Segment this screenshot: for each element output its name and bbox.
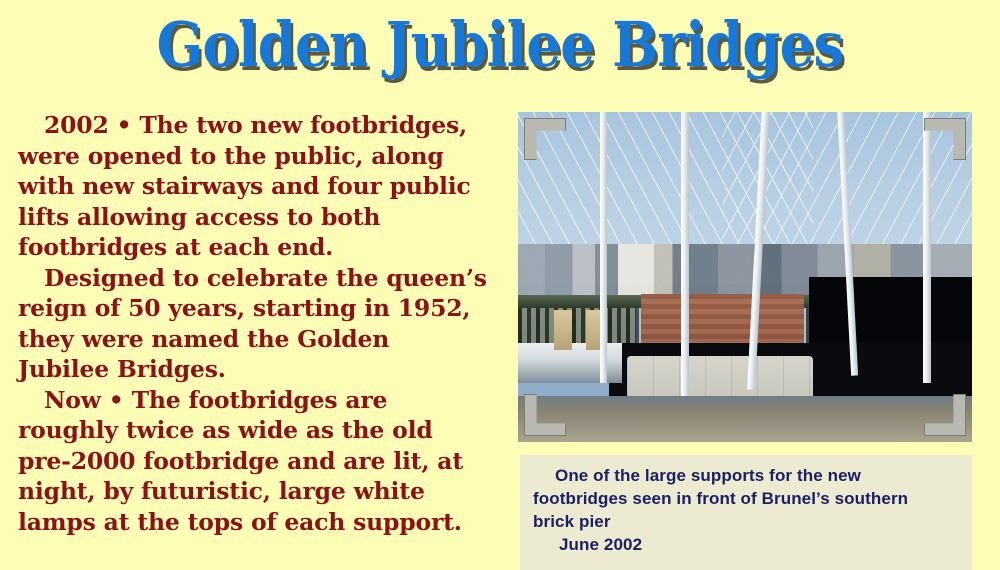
caption-line-4-date: June 2002	[533, 533, 963, 556]
page-title: Golden Jubilee Bridges	[60, 6, 940, 84]
footbridge-mast-1	[600, 112, 607, 383]
bridge-photo	[518, 112, 972, 442]
slide-root: Golden Jubilee Bridges 2002 • The two ne…	[0, 0, 1000, 570]
photo-canvas	[518, 112, 972, 442]
caption-line-1: One of the large supports for the new	[533, 464, 963, 487]
river-water	[518, 396, 972, 442]
photo-caption-text: One of the large supports for the new fo…	[533, 464, 963, 556]
caption-line-3: brick pier	[533, 510, 963, 533]
footbridge-mast-2	[681, 112, 689, 396]
footbridge-mast-5	[923, 112, 931, 383]
body-paragraph-1: 2002 • The two new footbridges, were ope…	[18, 110, 488, 263]
boat-funnel-front	[554, 310, 572, 350]
body-paragraph-3: Now • The footbridges are roughly twice …	[18, 385, 488, 538]
body-paragraph-2: Designed to celebrate the queen’s reign …	[18, 263, 488, 385]
photo-caption-panel: One of the large supports for the new fo…	[520, 455, 972, 570]
caption-line-2: footbridges seen in front of Brunel’s so…	[533, 487, 963, 510]
body-text-block: 2002 • The two new footbridges, were ope…	[18, 110, 488, 537]
